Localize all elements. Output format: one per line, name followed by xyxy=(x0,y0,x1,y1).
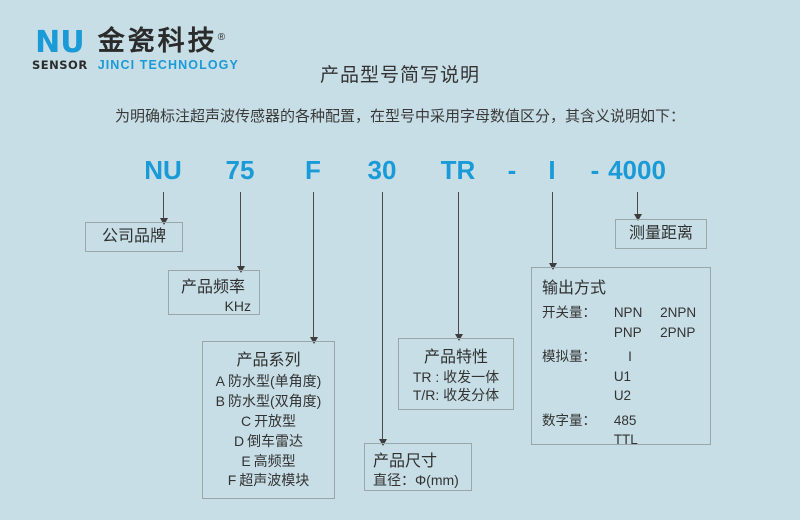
output-digital-ttl: TTL xyxy=(614,430,646,450)
connector-line-size xyxy=(382,192,383,440)
output-switch-pnp: PNP xyxy=(614,323,646,343)
output-group-label-analog: 模拟量： xyxy=(542,347,600,367)
connector-line-distance xyxy=(637,192,638,215)
feature-label-tr: 收发一体 xyxy=(443,369,499,385)
box-product-series: 产品系列 A防水型(单角度) B防水型(双角度) C开放型 D倒车雷达 E高频型… xyxy=(202,341,335,499)
output-spacer-7 xyxy=(660,411,700,431)
box-product-frequency-unit: KHz xyxy=(175,297,251,315)
box-product-feature: 产品特性 TR : 收发一体 T/R: 收发分体 xyxy=(398,338,514,410)
connector-line-frequency xyxy=(240,192,241,267)
logo-nu-text: NU xyxy=(35,28,84,58)
model-segment-feature: TR xyxy=(441,155,476,186)
model-separator-1: - xyxy=(508,155,517,186)
output-spacer-5 xyxy=(542,386,600,406)
series-item-c: C开放型 xyxy=(211,412,326,432)
series-item-d: D倒车雷达 xyxy=(211,432,326,452)
series-item-b: B防水型(双角度) xyxy=(211,392,326,412)
box-product-frequency-title: 产品频率 xyxy=(175,273,251,297)
model-number-row: NU 75 F 30 TR - I - 4000 xyxy=(0,155,800,189)
box-product-size-title: 产品尺寸 xyxy=(373,447,463,471)
output-mode-grid: 开关量： NPN 2NPN PNP 2PNP 模拟量： I U1 U2 数字量：… xyxy=(542,303,700,450)
box-product-series-title: 产品系列 xyxy=(211,346,326,370)
series-code-c: C xyxy=(241,413,251,429)
model-segment-output: I xyxy=(548,155,555,186)
series-code-f: F xyxy=(228,472,237,488)
series-label-d: 倒车雷达 xyxy=(247,433,303,449)
model-segment-size: 30 xyxy=(368,155,397,186)
series-label-b: 防水型(双角度) xyxy=(228,393,321,409)
series-label-e: 高频型 xyxy=(254,453,296,469)
output-analog-i: I xyxy=(614,347,646,367)
model-segment-brand: NU xyxy=(144,155,182,186)
feature-code-tr: TR : xyxy=(413,369,439,385)
output-spacer-9 xyxy=(660,430,700,450)
output-switch-2pnp: 2PNP xyxy=(660,323,700,343)
output-spacer-3 xyxy=(542,367,600,387)
diagram-page: NU SENSOR 金瓷科技® JINCI TECHNOLOGY 产品型号简写说… xyxy=(0,0,800,520)
output-spacer-6 xyxy=(660,386,700,406)
connector-line-output xyxy=(552,192,553,264)
series-label-c: 开放型 xyxy=(254,413,296,429)
connector-line-feature xyxy=(458,192,459,335)
output-spacer-4 xyxy=(660,367,700,387)
box-product-size: 产品尺寸 直径：Φ(mm) xyxy=(364,443,472,491)
box-measure-distance: 测量距离 xyxy=(615,219,707,249)
series-item-f: F超声波模块 xyxy=(211,471,326,491)
model-segment-distance: 4000 xyxy=(608,155,666,186)
series-item-e: E高频型 xyxy=(211,452,326,472)
box-measure-distance-title: 测量距离 xyxy=(616,220,706,248)
page-subtitle: 为明确标注超声波传感器的各种配置，在型号中采用字母数值区分，其含义说明如下： xyxy=(0,105,800,126)
page-title: 产品型号简写说明 xyxy=(0,60,800,87)
output-analog-u1: U1 xyxy=(614,367,646,387)
model-separator-2: - xyxy=(591,155,600,186)
output-spacer-1 xyxy=(542,323,600,343)
box-product-frequency: 产品频率 KHz xyxy=(168,270,260,315)
series-code-b: B xyxy=(216,393,225,409)
output-spacer-2 xyxy=(660,347,700,367)
feature-label-t-r: 收发分体 xyxy=(443,387,499,403)
output-spacer-8 xyxy=(542,430,600,450)
output-digital-485: 485 xyxy=(614,411,646,431)
box-product-size-line: 直径：Φ(mm) xyxy=(373,471,463,489)
output-switch-npn: NPN xyxy=(614,303,646,323)
logo-chinese-text: 金瓷科技 xyxy=(98,26,218,56)
series-label-a: 防水型(单角度) xyxy=(228,373,321,389)
connector-line-brand xyxy=(163,192,164,219)
feature-code-t-r: T/R: xyxy=(413,387,439,403)
output-group-label-switch: 开关量： xyxy=(542,303,600,323)
box-company-brand: 公司品牌 xyxy=(85,222,183,252)
model-segment-series: F xyxy=(305,155,321,186)
series-item-a: A防水型(单角度) xyxy=(211,372,326,392)
logo-chinese-name: 金瓷科技® xyxy=(98,28,239,55)
output-analog-u2: U2 xyxy=(614,386,646,406)
registered-trademark-icon: ® xyxy=(218,32,228,43)
box-output-mode: 输出方式 开关量： NPN 2NPN PNP 2PNP 模拟量： I U1 U2… xyxy=(531,267,711,445)
connector-line-series xyxy=(313,192,314,338)
feature-item-tr: TR : 收发一体 xyxy=(407,368,505,386)
model-segment-frequency: 75 xyxy=(226,155,255,186)
output-group-label-digital: 数字量： xyxy=(542,411,600,431)
series-code-a: A xyxy=(216,373,225,389)
box-output-mode-title: 输出方式 xyxy=(542,274,700,298)
feature-item-t-r: T/R: 收发分体 xyxy=(407,386,505,404)
box-product-feature-title: 产品特性 xyxy=(407,343,505,367)
series-label-f: 超声波模块 xyxy=(239,472,309,488)
box-company-brand-title: 公司品牌 xyxy=(86,223,182,251)
series-code-e: E xyxy=(241,453,250,469)
series-code-d: D xyxy=(234,433,244,449)
output-switch-2npn: 2NPN xyxy=(660,303,700,323)
